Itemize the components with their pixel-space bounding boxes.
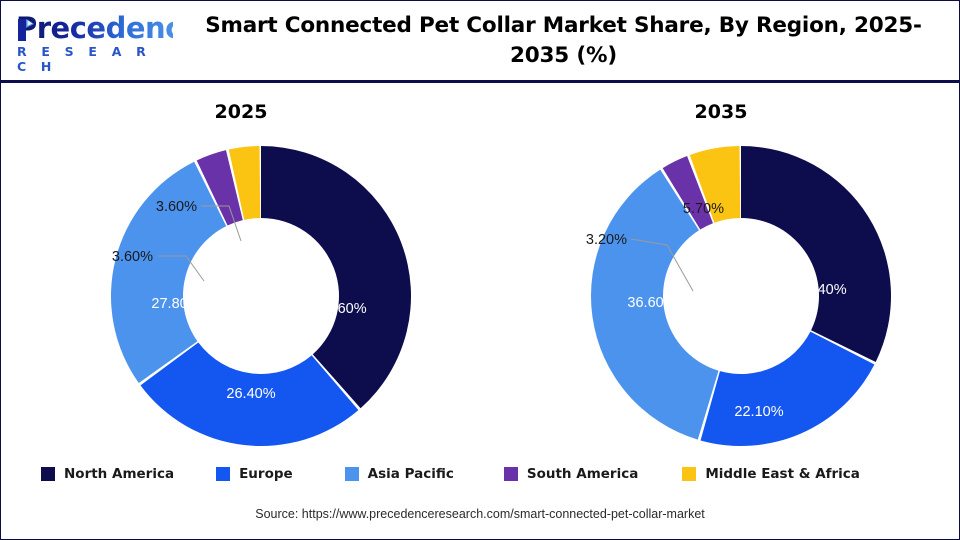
slice-value-north-america: 32.40% xyxy=(797,282,846,298)
page-header: Precedence R E S E A R C H Smart Connect… xyxy=(1,1,959,83)
slice-north-america[interactable] xyxy=(741,146,891,362)
callout-value-middle-east-africa: 5.70% xyxy=(683,201,724,217)
chart-page: Precedence R E S E A R C H Smart Connect… xyxy=(0,0,960,540)
donut-chart-2035: 32.40% 22.10% 36.60% 3.20% 5.70% xyxy=(481,91,960,451)
legend-label: North America xyxy=(64,466,174,482)
donut-chart-2025: 38.60% 26.40% 27.80% 3.60% 3.60% xyxy=(1,91,481,451)
slice-value-north-america: 38.60% xyxy=(317,301,366,317)
slice-europe[interactable] xyxy=(701,332,875,446)
legend-item-europe[interactable]: Europe xyxy=(216,466,293,482)
slice-north-america[interactable] xyxy=(261,146,411,408)
legend-swatch-icon xyxy=(345,467,359,481)
callout-value-middle-east-africa: 3.60% xyxy=(156,199,197,215)
legend-swatch-icon xyxy=(682,467,696,481)
slice-asia-pacific[interactable] xyxy=(111,162,226,383)
legend-item-middle-east-africa[interactable]: Middle East & Africa xyxy=(682,466,860,482)
slice-value-europe: 26.40% xyxy=(226,386,275,402)
legend-swatch-icon xyxy=(216,467,230,481)
slice-value-europe: 22.10% xyxy=(734,404,783,420)
legend-label: Asia Pacific xyxy=(368,466,454,482)
legend-item-asia-pacific[interactable]: Asia Pacific xyxy=(345,466,454,482)
chart-legend: North America Europe Asia Pacific South … xyxy=(1,459,959,489)
page-title: Smart Connected Pet Collar Market Share,… xyxy=(181,11,946,71)
legend-swatch-icon xyxy=(41,467,55,481)
legend-label: Middle East & Africa xyxy=(705,466,860,482)
callout-value-south-america: 3.60% xyxy=(112,249,153,265)
legend-item-north-america[interactable]: North America xyxy=(41,466,174,482)
logo-subtitle: R E S E A R C H xyxy=(13,44,173,74)
legend-swatch-icon xyxy=(504,467,518,481)
precedence-research-logo: Precedence R E S E A R C H xyxy=(13,13,173,69)
logo-wordmark: Precedence xyxy=(13,13,173,43)
legend-label: South America xyxy=(527,466,638,482)
legend-item-south-america[interactable]: South America xyxy=(504,466,638,482)
slice-value-asia-pacific: 36.60% xyxy=(627,295,676,311)
callout-value-south-america: 3.20% xyxy=(586,232,627,248)
precedence-p-mark-icon xyxy=(15,17,37,43)
source-footer: Source: https://www.precedenceresearch.c… xyxy=(1,507,959,521)
legend-label: Europe xyxy=(239,466,293,482)
chart-panel-2025: 2025 38.60% 26.40% 27.80% 3.60% 3.60% xyxy=(1,91,481,451)
slice-value-asia-pacific: 27.80% xyxy=(151,296,200,312)
chart-panel-2035: 2035 32.40% 22.10% 36.60% 3.20% 5.70% xyxy=(481,91,960,451)
